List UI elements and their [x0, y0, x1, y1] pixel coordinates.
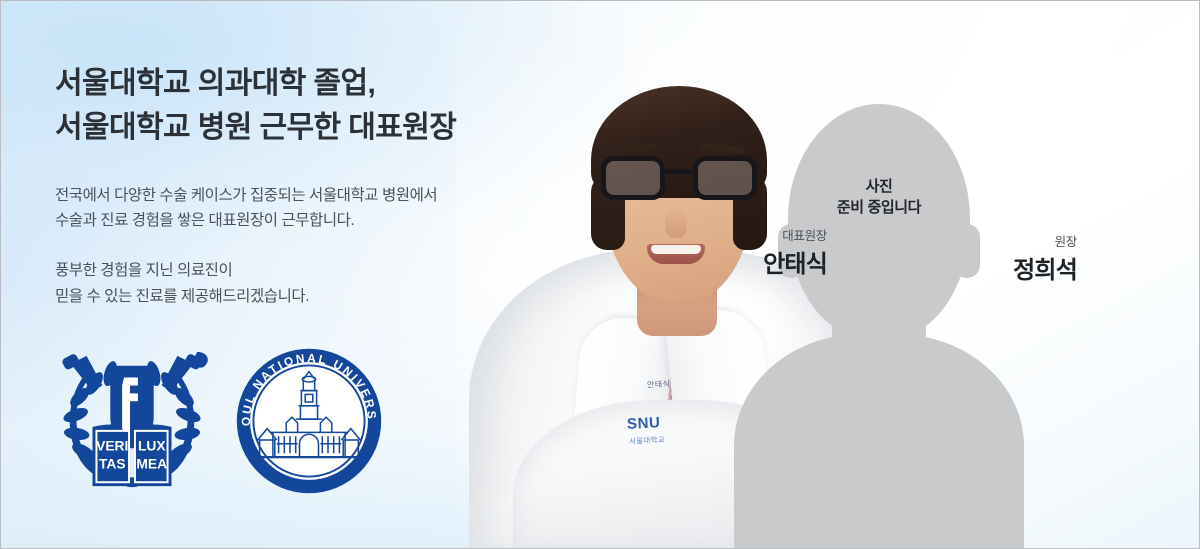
text-column: 서울대학교 의과대학 졸업, 서울대학교 병원 근무한 대표원장 전국에서 다양… [55, 63, 575, 309]
headline-line-2: 서울대학교 병원 근무한 대표원장 [55, 107, 575, 150]
logo-row: VERI TAS LUX MEA SEOUL NATIONAL UNIVERSI… [53, 342, 385, 500]
paragraph-2-line-1: 풍부한 경험을 지닌 의료진이 [55, 258, 575, 283]
photo-placeholder-text: 사진 준비 중입니다 [734, 176, 1024, 219]
doctor-name-label: 정희석 [1013, 256, 1077, 286]
doctor-teeth [651, 245, 701, 254]
doctor-placeholder-jung-heeseok: 사진 준비 중입니다 [734, 104, 1024, 549]
snu-university-emblem-icon: VERI TAS LUX MEA [53, 342, 211, 500]
doctor-intro-banner: 서울대학교 의과대학 졸업, 서울대학교 병원 근무한 대표원장 전국에서 다양… [0, 0, 1200, 549]
doctor-role-label: 원장 [1013, 235, 1077, 250]
eyeglass-lens-left [601, 156, 665, 200]
doctor-role-label: 대표원장 [763, 229, 827, 244]
eyeglass-bridge [665, 169, 693, 174]
placeholder-line-1: 사진 [734, 176, 1024, 197]
silhouette-head [788, 104, 970, 338]
placeholder-line-2: 준비 중입니다 [734, 197, 1024, 218]
coat-embroidered-name: 안태식 [647, 378, 671, 390]
snu-hospital-seal-icon: SEOUL NATIONAL UNIVERSITY HOSPITAL [233, 345, 385, 497]
emblem-motto-tas: TAS [99, 455, 126, 471]
paragraph-1-line-2: 수술과 진료 경험을 쌓은 대표원장이 근무합니다. [55, 208, 575, 233]
emblem-motto-mea: MEA [136, 455, 167, 471]
doctor-caption-jung-heeseok: 원장 정희석 [1013, 235, 1077, 286]
paragraph-1-line-1: 전국에서 다양한 수술 케이스가 집중되는 서울대학교 병원에서 [55, 183, 575, 208]
doctor-nose [665, 208, 687, 238]
coat-snu-logo: SNU [627, 414, 661, 433]
doctor-photo-area: 안태식 SNU 서울대학교 사진 준비 중입니다 [539, 1, 1199, 549]
doctor-caption-an-taesik: 대표원장 안태식 [763, 229, 827, 280]
doctor-name-label: 안태식 [763, 250, 827, 280]
coat-snu-logo-subtext: 서울대학교 [629, 434, 666, 447]
paragraph-2-line-2: 믿을 수 있는 진료를 제공해드리겠습니다. [55, 284, 575, 309]
headline-line-1: 서울대학교 의과대학 졸업, [55, 63, 575, 106]
emblem-motto-veri: VERI [96, 438, 128, 454]
emblem-motto-lux: LUX [138, 438, 166, 454]
